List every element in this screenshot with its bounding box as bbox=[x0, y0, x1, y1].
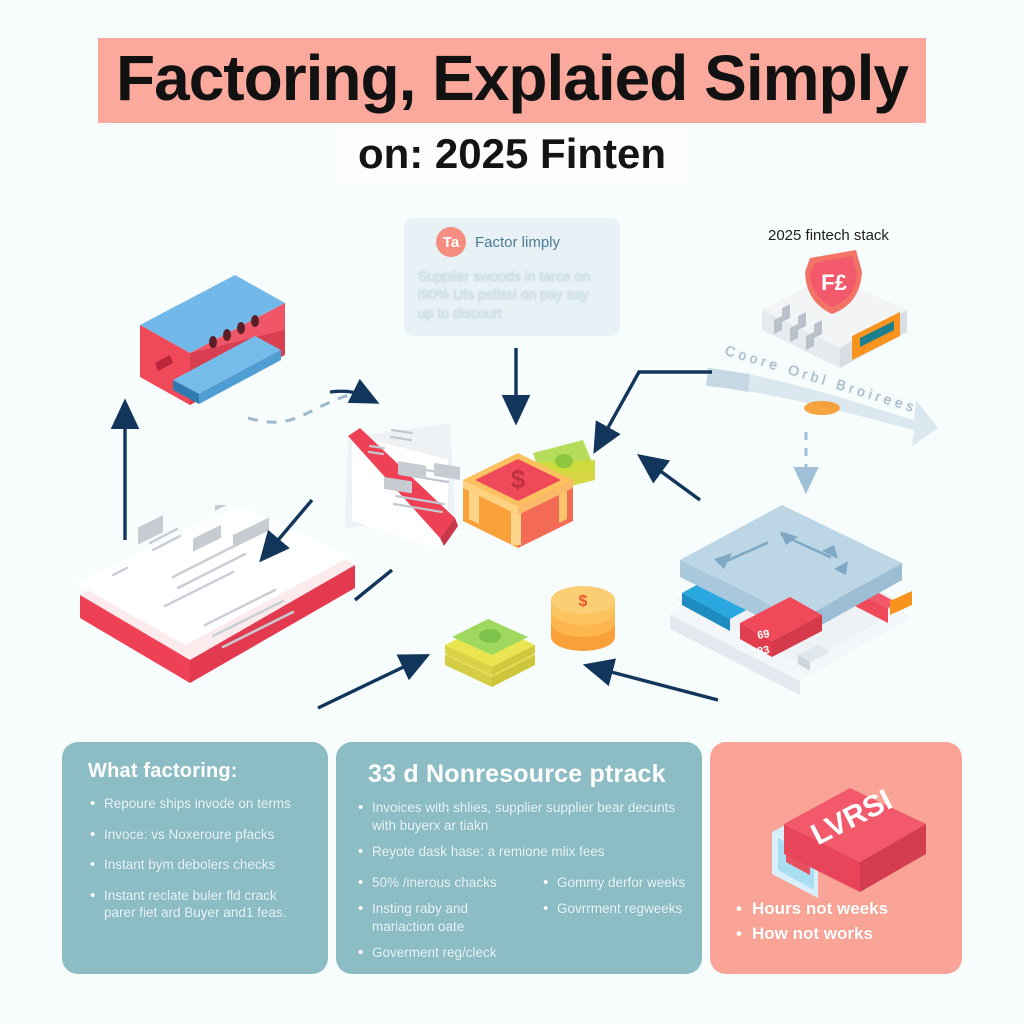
list-item: Instant bym debolers checks bbox=[90, 856, 310, 874]
callout-header: Ta Factor limply bbox=[404, 218, 620, 257]
coin-stack-illustration: $ bbox=[548, 585, 618, 660]
avatar: Ta bbox=[436, 227, 466, 257]
page-subtitle: on: 2025 Finten bbox=[0, 128, 1024, 184]
money-symbol: $ bbox=[511, 464, 526, 494]
arrow-segment-mid bbox=[355, 570, 392, 600]
page-title: Factoring, Explaied Simply bbox=[0, 38, 1024, 123]
shield-label: F£ bbox=[821, 270, 847, 295]
panel-what-factoring: What factoring: Repoure ships invode on … bbox=[62, 742, 328, 974]
panel-mid-bullets: Invoices with shlies, supplier supplier … bbox=[336, 789, 702, 861]
invoice-document-illustration bbox=[65, 505, 355, 690]
list-item: Insting raby and mariaction oate bbox=[358, 900, 503, 935]
callout-body: Supplier swoods in tarce on i90% Uts pst… bbox=[404, 257, 620, 322]
panel-left-heading: What factoring: bbox=[62, 742, 328, 783]
page-subtitle-text: on: 2025 Finten bbox=[336, 128, 688, 184]
panel-mid-column-left: 50% /inerous chacks Insting raby and mar… bbox=[336, 870, 517, 971]
platform-device-illustration: 69 83 bbox=[662, 505, 922, 695]
list-item: Goverment reg/cleck bbox=[358, 944, 503, 962]
cash-stack-illustration bbox=[440, 615, 540, 695]
list-item: Invoce: vs Noxeroure pfacks bbox=[90, 826, 310, 844]
list-item: Repoure ships invode on terms bbox=[90, 795, 310, 813]
infographic-canvas: Factoring, Explaied Simply on: 2025 Fint… bbox=[0, 0, 1024, 1024]
list-item: Reyote dask hase: a remione mlix fees bbox=[358, 843, 688, 861]
list-item: Gommy derfor weeks bbox=[543, 874, 688, 892]
list-item: Invoices with shlies, supplier supplier … bbox=[358, 799, 688, 834]
list-item: How not works bbox=[736, 923, 946, 946]
panel-left-bullets: Repoure ships invode on terms Invoce: vs… bbox=[62, 783, 328, 922]
printer-device-illustration bbox=[95, 270, 285, 405]
platform-tag-1: 69 bbox=[756, 628, 770, 642]
list-item: Govrrment regweeks bbox=[543, 900, 688, 918]
arrow-platform-to-money bbox=[648, 462, 700, 500]
money-box-illustration: $ bbox=[455, 435, 595, 565]
crate-illustration: LVRSI bbox=[758, 762, 938, 912]
platform-tag-2: 83 bbox=[756, 644, 770, 658]
list-item: 50% /inerous chacks bbox=[358, 874, 503, 892]
callout-card[interactable]: Ta Factor limply Supplier swoods in tarc… bbox=[404, 218, 620, 336]
panel-nonresource-pack: 33 d Nonresource ptrack Invoices with sh… bbox=[336, 742, 702, 974]
panel-mid-columns: 50% /inerous chacks Insting raby and mar… bbox=[336, 870, 702, 971]
panel-mid-column-right: Gommy derfor weeks Govrrment regweeks bbox=[521, 870, 702, 971]
page-title-text: Factoring, Explaied Simply bbox=[98, 38, 926, 123]
arrow-building-to-money bbox=[600, 372, 712, 442]
callout-title: Factor limply bbox=[475, 234, 560, 251]
list-item: Hours not weeks bbox=[736, 898, 946, 921]
list-item: Instant reclate buler fld crack parer fi… bbox=[90, 887, 310, 922]
panel-mid-heading: 33 d Nonresource ptrack bbox=[336, 742, 702, 789]
panel-right-bullets: Hours not weeks How not works bbox=[736, 898, 946, 948]
coin-symbol: $ bbox=[579, 593, 588, 610]
fintech-stack-label: 2025 fintech stack bbox=[768, 227, 889, 244]
